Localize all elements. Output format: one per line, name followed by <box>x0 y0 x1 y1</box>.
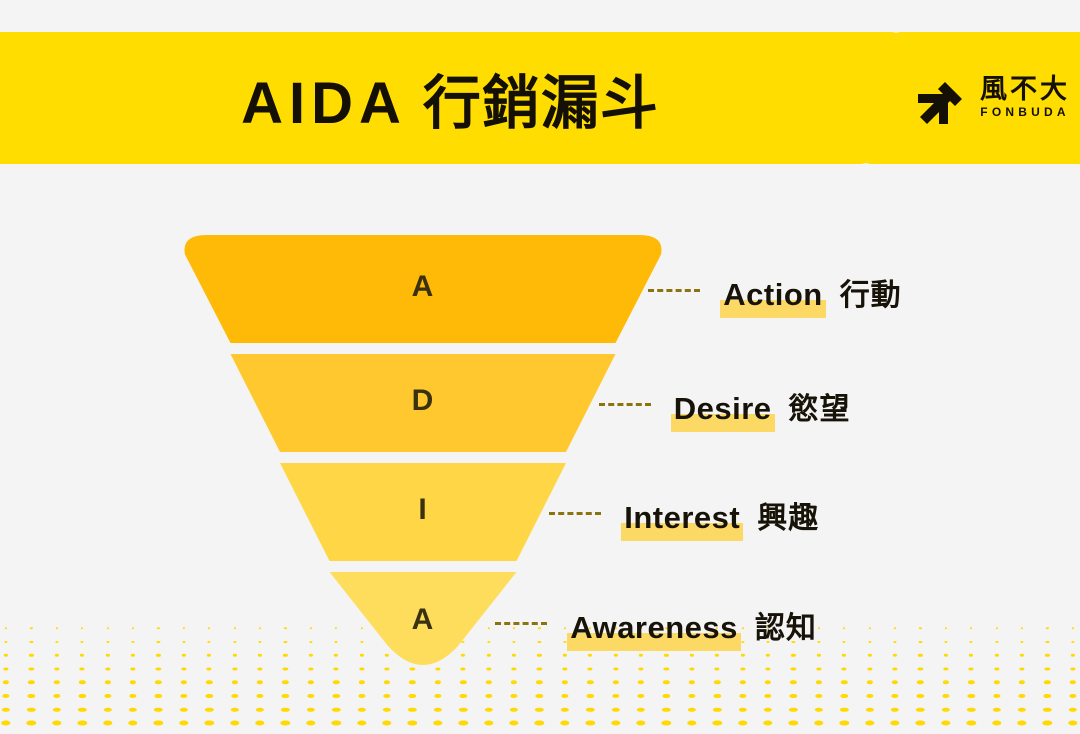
pattern-dot <box>358 694 365 698</box>
pattern-dot <box>1045 667 1050 670</box>
pattern-dot <box>891 694 898 698</box>
pattern-dot <box>28 681 34 685</box>
pattern-dot <box>790 694 797 698</box>
pattern-dot <box>129 694 136 698</box>
pattern-dot <box>740 667 745 670</box>
pattern-dot <box>866 694 873 698</box>
pattern-dot <box>1018 694 1025 698</box>
pattern-dot <box>967 707 975 712</box>
page-title-cjk: 行銷漏斗 <box>423 71 659 136</box>
pattern-dot <box>942 694 949 698</box>
pattern-dot <box>587 681 593 685</box>
pattern-dot <box>945 627 947 629</box>
logo-name-cjk: 風不大 <box>980 75 1070 103</box>
pattern-dot <box>80 667 85 670</box>
pattern-dot <box>4 641 7 643</box>
pattern-dot <box>688 707 696 712</box>
pattern-dot <box>104 694 111 698</box>
pattern-dot <box>535 707 543 712</box>
pattern-dot <box>941 721 950 726</box>
pattern-dot <box>842 654 846 657</box>
pattern-dot <box>157 627 159 629</box>
pattern-dot <box>740 654 744 657</box>
pattern-dot <box>106 641 109 643</box>
pattern-dot <box>180 707 188 712</box>
pattern-dot <box>1070 667 1075 670</box>
pattern-dot <box>132 627 134 629</box>
pattern-dot <box>969 654 973 657</box>
pattern-dot <box>943 681 949 685</box>
pattern-dot <box>205 707 213 712</box>
pattern-dot <box>865 721 874 726</box>
pattern-dot <box>281 721 290 726</box>
pattern-dot <box>790 681 796 685</box>
pattern-dot <box>458 721 467 726</box>
pattern-dot <box>1019 667 1024 670</box>
pattern-dot <box>891 707 899 712</box>
pattern-dot <box>104 681 110 685</box>
pattern-dot <box>358 681 364 685</box>
pattern-dot <box>27 721 36 726</box>
pattern-dot <box>382 721 391 726</box>
pattern-dot <box>131 654 135 657</box>
pattern-dot <box>1046 641 1049 643</box>
pattern-dot <box>357 721 366 726</box>
pattern-dot <box>586 707 594 712</box>
logo-wordmark: 風不大 FONBUDA <box>980 75 1070 121</box>
slide-canvas: AIDA行銷漏斗 風不大 FONBUDA ADIA Action行動Desire… <box>0 0 1080 734</box>
pattern-dot <box>509 721 518 726</box>
pattern-dot <box>434 694 441 698</box>
pattern-dot <box>738 707 746 712</box>
pattern-dot <box>663 681 669 685</box>
pattern-dot <box>992 721 1001 726</box>
pattern-dot <box>2 707 10 712</box>
pattern-dot <box>155 694 162 698</box>
pattern-dot <box>562 681 568 685</box>
pattern-dot <box>331 721 340 726</box>
pattern-dot <box>917 694 924 698</box>
pattern-dot <box>994 654 998 657</box>
connector-line-awareness <box>495 622 547 625</box>
pattern-dot <box>154 721 163 726</box>
pattern-dot <box>612 681 618 685</box>
connector-line-interest <box>549 512 601 515</box>
funnel-label-action[interactable]: Action行動 <box>720 270 901 314</box>
pattern-dot <box>919 627 921 629</box>
pattern-dot <box>257 681 263 685</box>
pattern-dot <box>1044 694 1051 698</box>
pattern-dot <box>459 707 467 712</box>
pattern-dot <box>993 681 999 685</box>
pattern-dot <box>689 681 695 685</box>
pattern-dot <box>866 681 872 685</box>
pattern-dot <box>157 641 160 643</box>
pattern-dot <box>206 694 213 698</box>
pattern-dot <box>715 654 719 657</box>
funnel-label-interest[interactable]: Interest興趣 <box>621 493 819 537</box>
pattern-dot <box>1069 694 1076 698</box>
pattern-dot <box>585 721 594 726</box>
pattern-dot <box>230 721 239 726</box>
pattern-dot <box>970 627 972 629</box>
pattern-dot <box>256 707 264 712</box>
pattern-dot <box>1019 681 1025 685</box>
pattern-dot <box>484 721 493 726</box>
pattern-dot <box>995 641 998 643</box>
pattern-dot <box>103 707 111 712</box>
pattern-dot <box>1072 627 1074 629</box>
funnel-label-awareness[interactable]: Awareness認知 <box>567 603 817 647</box>
pattern-dot <box>662 707 670 712</box>
pattern-dot <box>1043 707 1051 712</box>
pattern-dot <box>843 641 846 643</box>
pattern-dot <box>865 707 873 712</box>
pattern-dot <box>55 641 58 643</box>
pattern-dot <box>29 667 34 670</box>
pattern-dot <box>1070 681 1076 685</box>
pattern-dot <box>815 694 822 698</box>
pattern-dot <box>28 694 35 698</box>
pattern-dot <box>970 641 973 643</box>
pattern-dot <box>560 721 569 726</box>
logo-banner[interactable]: 風不大 FONBUDA <box>872 32 1080 164</box>
funnel-letter-interest: I <box>418 493 427 527</box>
funnel-letter-desire: D <box>412 384 435 418</box>
pattern-dot <box>510 694 517 698</box>
pattern-dot <box>894 627 896 629</box>
pattern-dot <box>383 707 391 712</box>
pattern-dot <box>383 694 390 698</box>
pattern-dot <box>77 721 86 726</box>
pattern-dot <box>1044 681 1050 685</box>
aida-funnel-diagram: ADIA <box>170 228 690 668</box>
pattern-dot <box>791 654 795 657</box>
pattern-dot <box>993 694 1000 698</box>
pattern-dot <box>843 627 845 629</box>
pattern-dot <box>536 694 543 698</box>
funnel-letter-action: A <box>412 270 435 304</box>
pattern-dot <box>869 627 871 629</box>
pattern-dot <box>968 694 975 698</box>
pattern-dot <box>53 707 61 712</box>
pattern-dot <box>53 694 60 698</box>
pattern-dot <box>868 641 871 643</box>
pattern-dot <box>942 707 950 712</box>
pattern-dot <box>105 667 110 670</box>
pattern-dot <box>739 694 746 698</box>
pattern-dot <box>814 721 823 726</box>
pattern-dot <box>105 654 109 657</box>
pattern-dot <box>81 627 83 629</box>
pattern-dot <box>156 667 161 670</box>
pattern-dot <box>966 721 975 726</box>
pattern-dot <box>130 667 135 670</box>
pattern-dot <box>384 681 390 685</box>
pattern-dot <box>1018 707 1026 712</box>
pattern-dot <box>738 721 747 726</box>
funnel-label-zh: 興趣 <box>757 493 819 537</box>
pattern-dot <box>27 707 35 712</box>
funnel-letter-awareness: A <box>412 603 435 637</box>
pattern-dot <box>78 707 86 712</box>
pattern-dot <box>511 681 517 685</box>
pattern-dot <box>54 681 60 685</box>
pattern-dot <box>535 721 544 726</box>
pattern-dot <box>715 667 720 670</box>
pattern-dot <box>1043 721 1052 726</box>
pattern-dot <box>841 694 848 698</box>
pattern-dot <box>206 681 212 685</box>
pattern-dot <box>712 721 721 726</box>
pattern-dot <box>763 721 772 726</box>
pattern-dot <box>485 681 491 685</box>
pattern-dot <box>231 681 237 685</box>
pattern-dot <box>791 667 796 670</box>
pattern-dot <box>892 667 897 670</box>
pattern-dot <box>867 667 872 670</box>
pattern-dot <box>204 721 213 726</box>
pattern-dot <box>306 721 315 726</box>
pattern-dot <box>2 694 9 698</box>
pattern-dot <box>765 681 771 685</box>
pattern-dot <box>688 694 695 698</box>
connector-line-action <box>648 289 700 292</box>
pattern-dot <box>817 641 820 643</box>
pattern-dot <box>969 667 974 670</box>
pattern-dot <box>943 667 948 670</box>
pattern-dot <box>916 721 925 726</box>
pattern-dot <box>944 654 948 657</box>
funnel-label-zh: 慾望 <box>789 384 851 428</box>
pattern-dot <box>510 707 518 712</box>
pattern-dot <box>307 694 314 698</box>
pattern-dot <box>1046 627 1048 629</box>
pattern-dot <box>54 667 59 670</box>
pattern-dot <box>1071 641 1074 643</box>
pattern-dot <box>867 654 871 657</box>
pattern-dot <box>1020 641 1023 643</box>
pattern-dot <box>333 681 339 685</box>
pattern-dot <box>3 667 8 670</box>
pattern-dot <box>434 707 442 712</box>
pattern-dot <box>409 694 416 698</box>
pattern-dot <box>690 654 694 657</box>
pattern-dot <box>5 627 7 629</box>
pattern-dot <box>992 707 1000 712</box>
pattern-dot <box>996 627 998 629</box>
pattern-dot <box>154 707 162 712</box>
pattern-dot <box>766 654 770 657</box>
pattern-dot <box>536 681 542 685</box>
pattern-dot <box>30 641 33 643</box>
pattern-dot <box>1045 654 1049 657</box>
pattern-dot <box>815 707 823 712</box>
pattern-dot <box>714 694 721 698</box>
pattern-dot <box>765 667 770 670</box>
pattern-dot <box>1069 707 1077 712</box>
pattern-dot <box>1021 627 1023 629</box>
pattern-dot <box>637 694 644 698</box>
pattern-dot <box>408 721 417 726</box>
pattern-dot <box>816 667 821 670</box>
pattern-dot <box>179 721 188 726</box>
pattern-dot <box>789 721 798 726</box>
pattern-dot <box>611 721 620 726</box>
pattern-dot <box>255 721 264 726</box>
pattern-dot <box>918 667 923 670</box>
pattern-dot <box>841 681 847 685</box>
pattern-dot <box>282 681 288 685</box>
pattern-dot <box>840 707 848 712</box>
pattern-dot <box>155 681 161 685</box>
connector-line-desire <box>599 403 651 406</box>
pattern-dot <box>944 641 947 643</box>
pattern-dot <box>4 654 8 657</box>
pattern-dot <box>917 681 923 685</box>
pattern-dot <box>52 721 61 726</box>
pattern-dot <box>1020 654 1024 657</box>
pattern-dot <box>818 627 820 629</box>
pattern-dot <box>107 627 109 629</box>
pattern-dot <box>561 694 568 698</box>
pattern-dot <box>890 721 899 726</box>
pattern-dot <box>919 641 922 643</box>
pattern-dot <box>587 694 594 698</box>
pattern-dot <box>460 681 466 685</box>
pattern-dot <box>130 681 136 685</box>
funnel-label-zh: 認知 <box>755 603 817 647</box>
pattern-dot <box>357 707 365 712</box>
arrow-up-right-icon <box>914 72 966 124</box>
pattern-dot <box>307 707 315 712</box>
pattern-dot <box>460 694 467 698</box>
pattern-dot <box>968 681 974 685</box>
pattern-dot <box>611 707 619 712</box>
pattern-dot <box>484 707 492 712</box>
pattern-dot <box>282 694 289 698</box>
page-title: AIDA行銷漏斗 <box>241 56 659 140</box>
pattern-dot <box>893 654 897 657</box>
pattern-dot <box>29 654 33 657</box>
pattern-dot <box>103 721 112 726</box>
pattern-dot <box>1068 721 1077 726</box>
pattern-dot <box>918 654 922 657</box>
logo-name-latin: FONBUDA <box>980 103 1069 121</box>
pattern-dot <box>817 654 821 657</box>
pattern-dot <box>433 721 442 726</box>
page-title-latin: AIDA <box>241 71 407 136</box>
pattern-dot <box>30 627 32 629</box>
pattern-dot <box>230 707 238 712</box>
pattern-dot <box>56 627 58 629</box>
pattern-dot <box>181 681 187 685</box>
funnel-label-en: Interest <box>621 500 743 536</box>
pattern-dot <box>816 681 822 685</box>
pattern-dot <box>156 654 160 657</box>
pattern-dot <box>1017 721 1026 726</box>
pattern-dot <box>485 694 492 698</box>
pattern-dot <box>332 707 340 712</box>
pattern-dot <box>893 641 896 643</box>
pattern-dot <box>231 694 238 698</box>
pattern-dot <box>637 707 645 712</box>
pattern-dot <box>256 694 263 698</box>
pattern-dot <box>561 707 569 712</box>
pattern-dot <box>713 707 721 712</box>
pattern-dot <box>81 641 84 643</box>
pattern-dot <box>764 694 771 698</box>
pattern-dot <box>994 667 999 670</box>
pattern-dot <box>789 707 797 712</box>
pattern-dot <box>281 707 289 712</box>
pattern-dot <box>79 694 86 698</box>
pattern-dot <box>764 707 772 712</box>
pattern-dot <box>687 721 696 726</box>
pattern-dot <box>409 681 415 685</box>
pattern-dot <box>892 681 898 685</box>
pattern-dot <box>662 721 671 726</box>
pattern-dot <box>1071 654 1075 657</box>
pattern-dot <box>638 681 644 685</box>
pattern-dot <box>131 641 134 643</box>
pattern-dot <box>79 681 85 685</box>
pattern-dot <box>333 694 340 698</box>
funnel-label-en: Awareness <box>567 610 741 646</box>
funnel-label-en: Desire <box>671 391 775 427</box>
pattern-dot <box>180 694 187 698</box>
pattern-dot <box>612 694 619 698</box>
pattern-dot <box>3 681 9 685</box>
pattern-dot <box>435 681 441 685</box>
pattern-dot <box>308 681 314 685</box>
pattern-dot <box>739 681 745 685</box>
pattern-dot <box>636 721 645 726</box>
pattern-dot <box>128 721 137 726</box>
funnel-label-zh: 行動 <box>840 270 902 314</box>
pattern-dot <box>1 721 10 726</box>
pattern-dot <box>714 681 720 685</box>
pattern-dot <box>408 707 416 712</box>
title-banner: AIDA行銷漏斗 <box>0 32 890 164</box>
funnel-label-en: Action <box>720 277 825 313</box>
pattern-dot <box>916 707 924 712</box>
pattern-dot <box>80 654 84 657</box>
pattern-dot <box>129 707 137 712</box>
pattern-dot <box>663 694 670 698</box>
pattern-dot <box>55 654 59 657</box>
pattern-dot <box>839 721 848 726</box>
pattern-dot <box>842 667 847 670</box>
funnel-label-desire[interactable]: Desire慾望 <box>671 384 851 428</box>
